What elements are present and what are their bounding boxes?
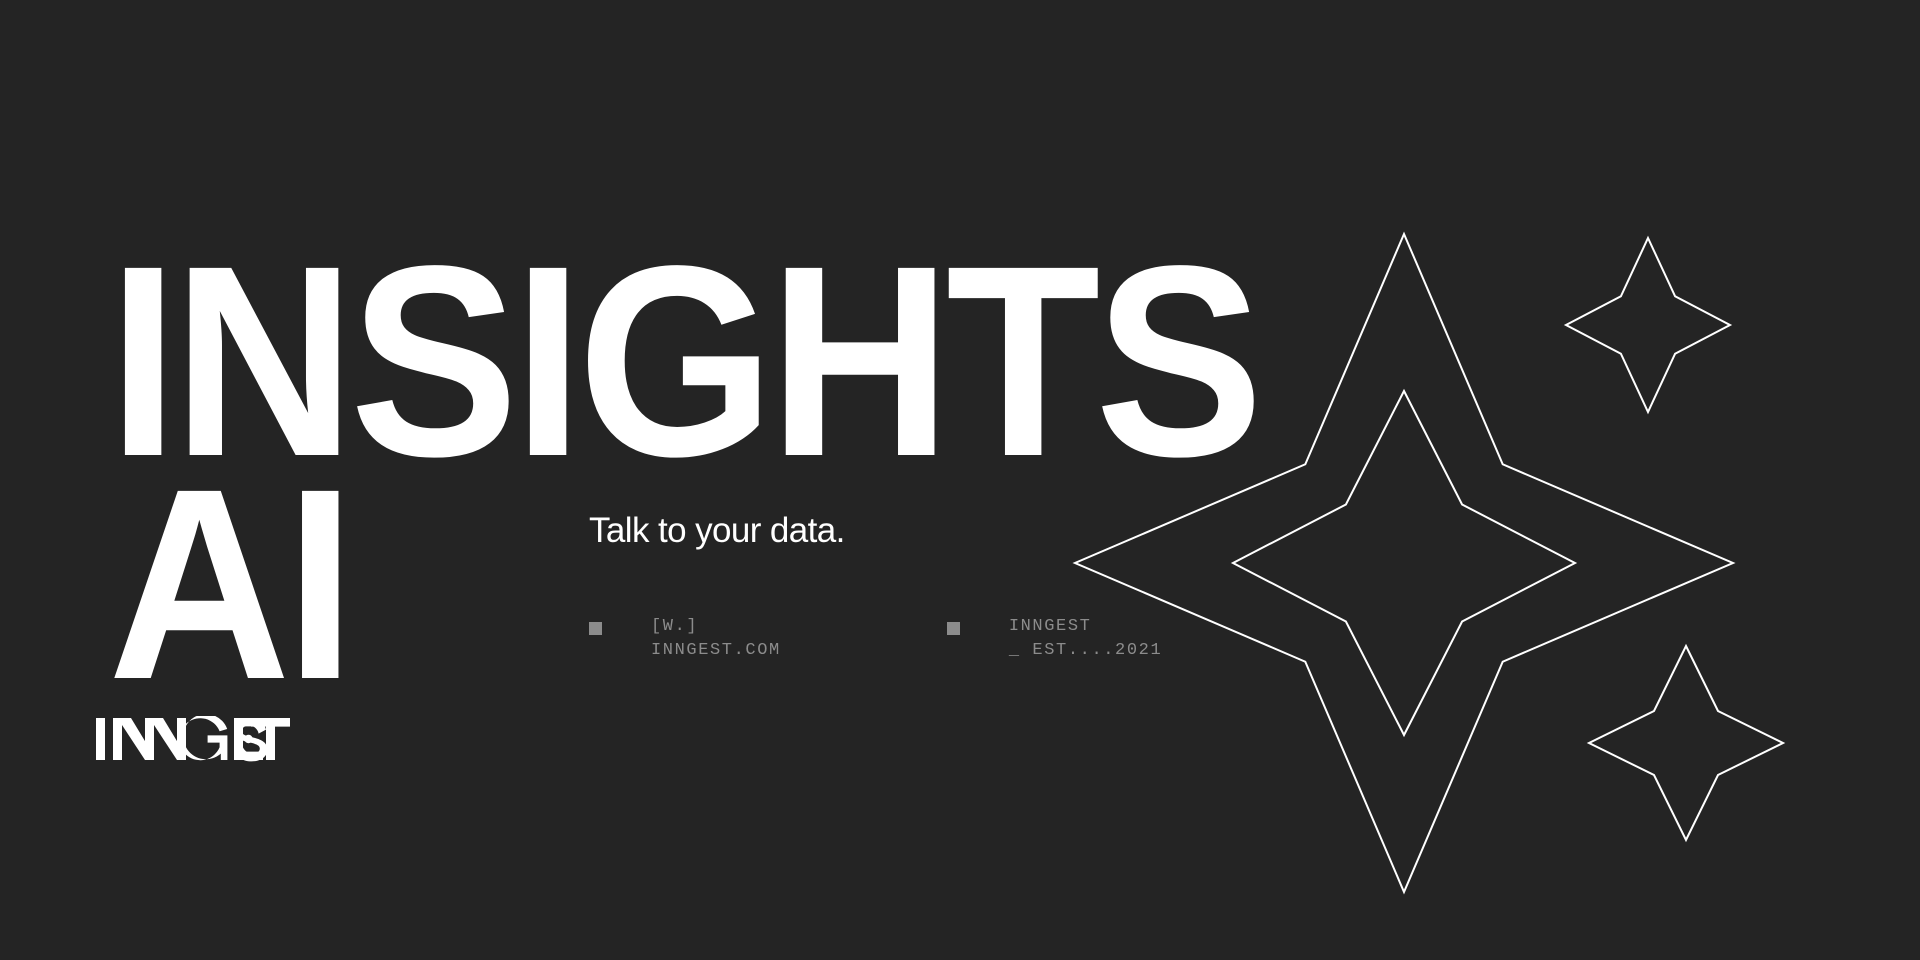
tagline: Talk to your data. [589,513,845,548]
meta-strip: [W.]INNGEST.COM INNGEST_ EST....2021 [589,615,1162,663]
square-bullet-icon [947,622,960,635]
meta-item-website: [W.]INNGEST.COM [589,615,781,663]
inngest-logo: INNGEST [96,716,290,762]
meta-item-company-text: INNGEST_ EST....2021 [1009,615,1162,663]
meta-website-label: [W.] [651,615,781,639]
meta-company-established: _ EST....2021 [1009,639,1162,663]
sparkle-small-bottom-right [1589,646,1783,840]
sparkle-small-top-right [1566,238,1730,412]
meta-company-label: INNGEST [1009,615,1162,639]
meta-item-company: INNGEST_ EST....2021 [947,615,1162,663]
square-bullet-icon [589,622,602,635]
meta-item-website-text: [W.]INNGEST.COM [651,615,781,663]
poster-canvas: INSIGHTSAI Talk to your data. [W.]INNGES… [0,0,1920,960]
meta-website-value: INNGEST.COM [651,639,781,663]
inngest-wordmark-icon [96,716,290,762]
